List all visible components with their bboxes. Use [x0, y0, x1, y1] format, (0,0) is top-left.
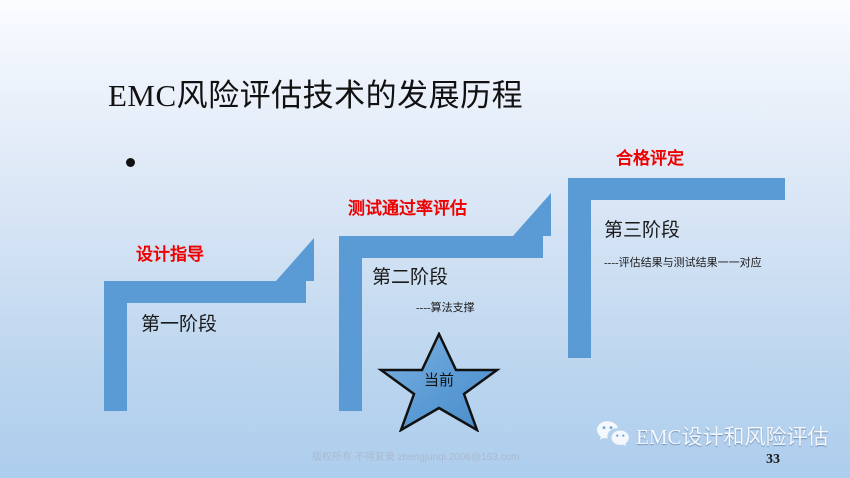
bullet-point-icon — [126, 158, 135, 167]
stage-1-vertical-bar — [104, 281, 127, 411]
stage-3-horizontal-bar — [568, 178, 785, 200]
current-stage-star-label: 当前 — [369, 369, 509, 390]
page-number: 33 — [766, 452, 780, 468]
stage-1-horizontal-bar — [104, 281, 306, 303]
stage-2-arrow-triangle-icon — [513, 193, 551, 236]
stage-2-horizontal-bar — [339, 236, 543, 258]
footer-brand-text: EMC设计和风险评估 — [636, 421, 829, 451]
stage-3-subtext: ----评估结果与测试结果一一对应 — [604, 256, 769, 270]
stage-1-red-label: 设计指导 — [136, 240, 204, 265]
page-title: EMC风险评估技术的发展历程 — [108, 76, 523, 116]
stage-2-subtext: ----算法支撑 — [416, 301, 566, 315]
stage-2-red-label: 测试通过率评估 — [348, 194, 467, 219]
stage-2-name: 第二阶段 — [372, 262, 448, 289]
stage-3-red-label: 合格评定 — [616, 144, 684, 169]
stage-2-vertical-bar — [339, 236, 362, 411]
stage-3-name: 第三阶段 — [604, 215, 680, 242]
footer-brand: EMC设计和风险评估 — [596, 420, 829, 451]
stage-1-name: 第一阶段 — [141, 309, 217, 336]
stage-3-vertical-bar — [568, 178, 591, 358]
wechat-icon — [596, 420, 630, 451]
copyright-watermark: 版权所有 不得复录 zhengjunqi.2006@163.com — [312, 448, 519, 463]
stage-1-arrow-triangle-icon — [276, 238, 314, 281]
slide-canvas: EMC风险评估技术的发展历程 设计指导 第一阶段 测试通过率评估 第二阶段 --… — [0, 0, 850, 478]
